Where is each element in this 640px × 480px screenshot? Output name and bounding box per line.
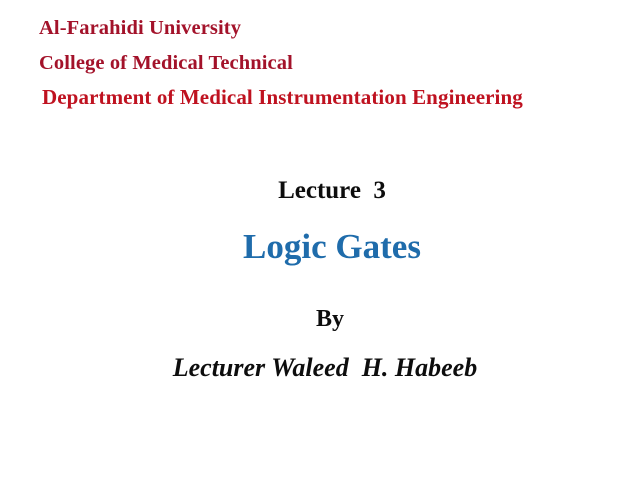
by-label: By [0,306,640,332]
institution-header: Al-Farahidi University College of Medica… [0,18,640,108]
page-title: Logic Gates [0,228,640,267]
lecturer-name: Lecturer Waleed H. Habeeb [0,354,640,383]
department-name: Department of Medical Instrumentation En… [0,87,640,108]
college-name: College of Medical Technical [0,53,640,74]
title-slide: Al-Farahidi University College of Medica… [0,0,640,480]
university-name: Al-Farahidi University [0,18,640,39]
lecture-number: Lecture 3 [0,177,640,205]
